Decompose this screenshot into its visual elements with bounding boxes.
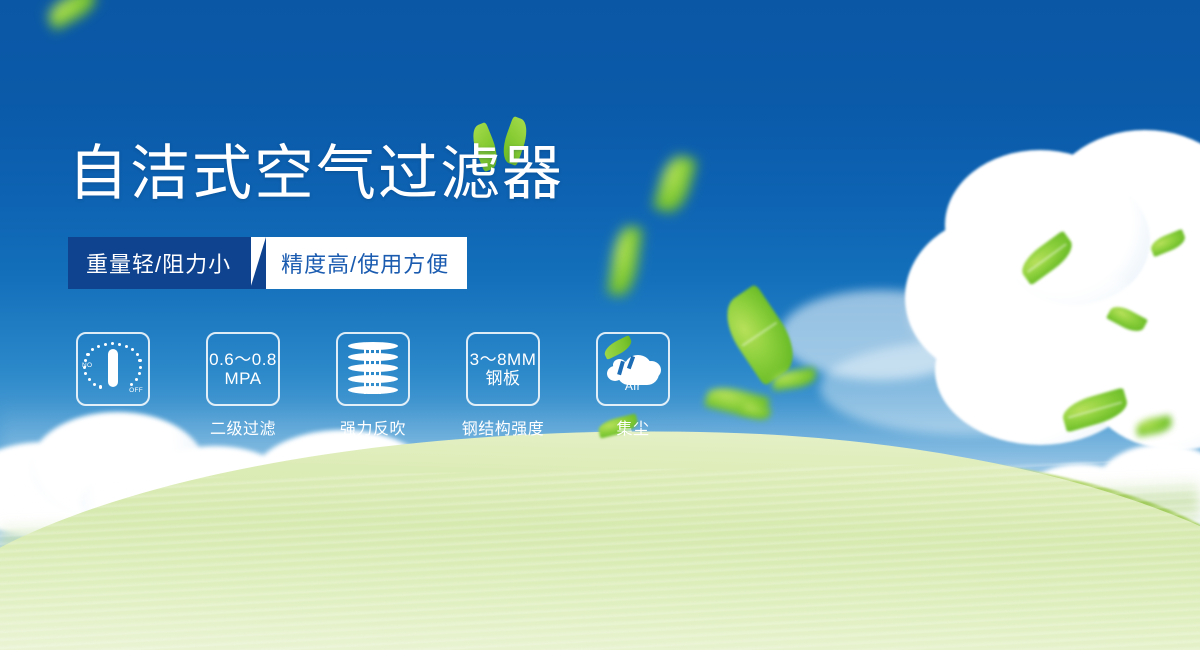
feature-icon-box: 3～8MM 钢板 — [466, 332, 540, 406]
feature-item-dust[interactable]: Air 集尘 — [588, 332, 678, 439]
product-banner: 自洁式空气过滤器 重量轻/阻力小 精度高/使用方便 — [0, 0, 1200, 650]
feature-label: 二级过滤 — [210, 415, 276, 439]
feature-item-steel[interactable]: 3～8MM 钢板 钢结构强度 — [458, 332, 548, 439]
dial-off-label: OFF — [129, 387, 143, 394]
steel-value-line1: 3～8MM — [470, 350, 537, 369]
grass-streaks — [0, 459, 1200, 650]
control-dial-icon: NO OFF — [83, 340, 143, 398]
air-label: Air — [605, 379, 661, 393]
feature-label: 钢结构强度 — [462, 415, 545, 439]
subtitle-left: 重量轻/阻力小 — [68, 237, 251, 289]
feature-label: 集尘 — [616, 415, 649, 439]
feature-icon-box: NO OFF — [76, 332, 150, 406]
feature-icon-box: 0.6～0.8 MPA — [206, 332, 280, 406]
pressure-value-line1: 0.6～0.8 — [209, 350, 277, 369]
page-title: 自洁式空气过滤器 — [68, 142, 564, 205]
subtitle-right: 精度高/使用方便 — [251, 237, 467, 289]
feature-item-pressure[interactable]: 0.6～0.8 MPA 二级过滤 — [198, 332, 288, 439]
steel-value-line2: 钢板 — [486, 369, 521, 388]
grass-field — [0, 430, 1200, 650]
subtitle-bar: 重量轻/阻力小 精度高/使用方便 — [68, 237, 467, 289]
pressure-value-line2: MPA — [224, 369, 261, 388]
feature-label: 强力反吹 — [340, 415, 406, 439]
dial-on-label: NO — [82, 362, 92, 369]
feature-list: NO OFF 控制仪 0.6～0.8 MPA 二级过滤 — [68, 332, 678, 439]
feature-item-blowback[interactable]: 强力反吹 — [328, 332, 418, 439]
feature-icon-box — [336, 332, 410, 406]
dust-cloud-air-icon: Air — [605, 347, 661, 391]
feature-item-control[interactable]: NO OFF 控制仪 — [68, 332, 158, 439]
cloud-wisp-mid — [760, 250, 1180, 450]
feature-label: 控制仪 — [88, 415, 138, 439]
blowback-filter-icon — [348, 342, 398, 396]
feature-icon-box: Air — [596, 332, 670, 406]
